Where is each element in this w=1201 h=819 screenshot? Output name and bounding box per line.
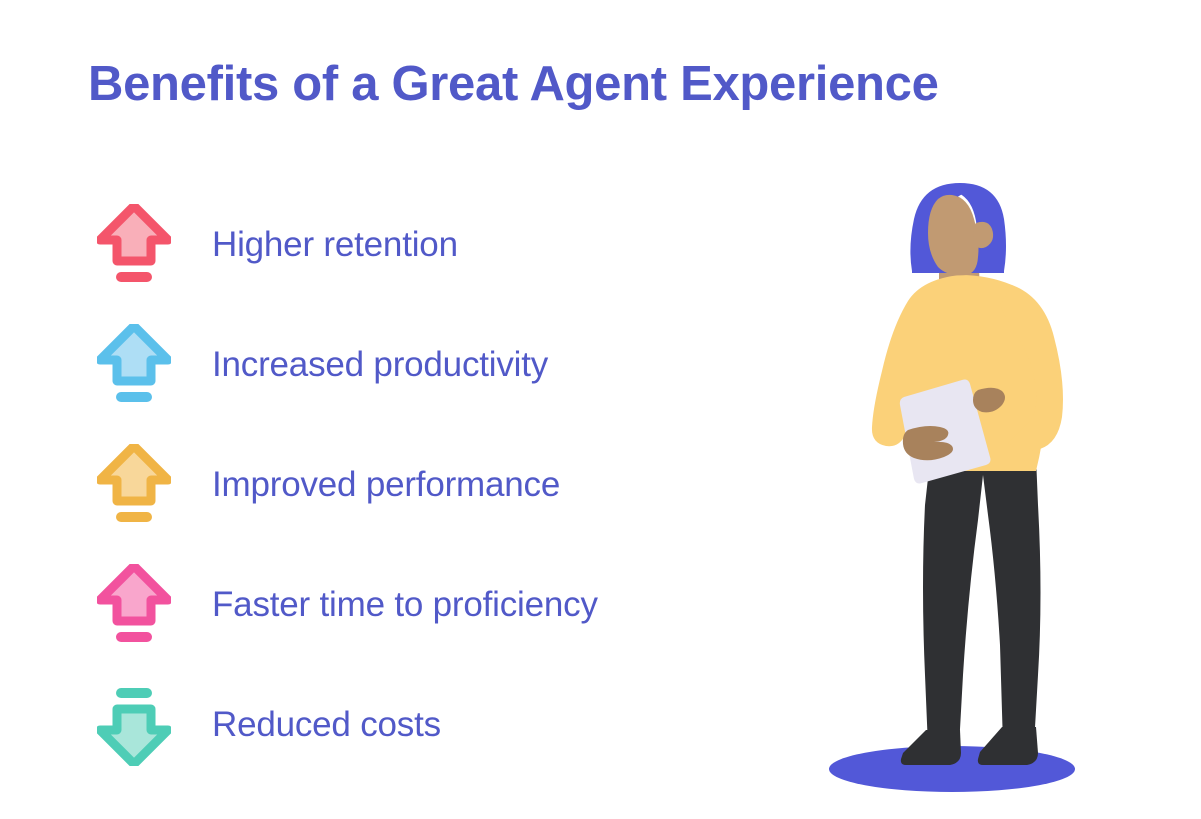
benefit-item: Increased productivity <box>86 305 866 425</box>
benefit-item: Faster time to proficiency <box>86 545 866 665</box>
arrow-up-icon <box>86 202 182 288</box>
benefit-label: Higher retention <box>212 224 458 266</box>
arrow-up-icon <box>86 562 182 648</box>
benefit-label: Improved performance <box>212 464 560 506</box>
left-hand <box>903 426 953 460</box>
benefit-label: Reduced costs <box>212 704 441 746</box>
benefit-label: Increased productivity <box>212 344 548 386</box>
agent-person-illustration <box>800 175 1130 805</box>
face <box>928 195 979 276</box>
infographic-canvas: Benefits of a Great Agent Experience Hig… <box>0 0 1201 819</box>
benefit-item: Reduced costs <box>86 665 866 785</box>
arrow-up-icon <box>86 322 182 408</box>
benefit-item: Improved performance <box>86 425 866 545</box>
arrow-up-icon <box>86 442 182 528</box>
benefit-label: Faster time to proficiency <box>212 584 598 626</box>
pants <box>923 433 1041 747</box>
arrow-down-icon <box>86 682 182 768</box>
page-title: Benefits of a Great Agent Experience <box>88 53 1118 115</box>
benefit-item: Higher retention <box>86 185 866 305</box>
left-shoe <box>901 730 961 765</box>
benefits-list: Higher retention Increased productivity … <box>86 185 866 785</box>
right-shoe <box>978 727 1038 765</box>
